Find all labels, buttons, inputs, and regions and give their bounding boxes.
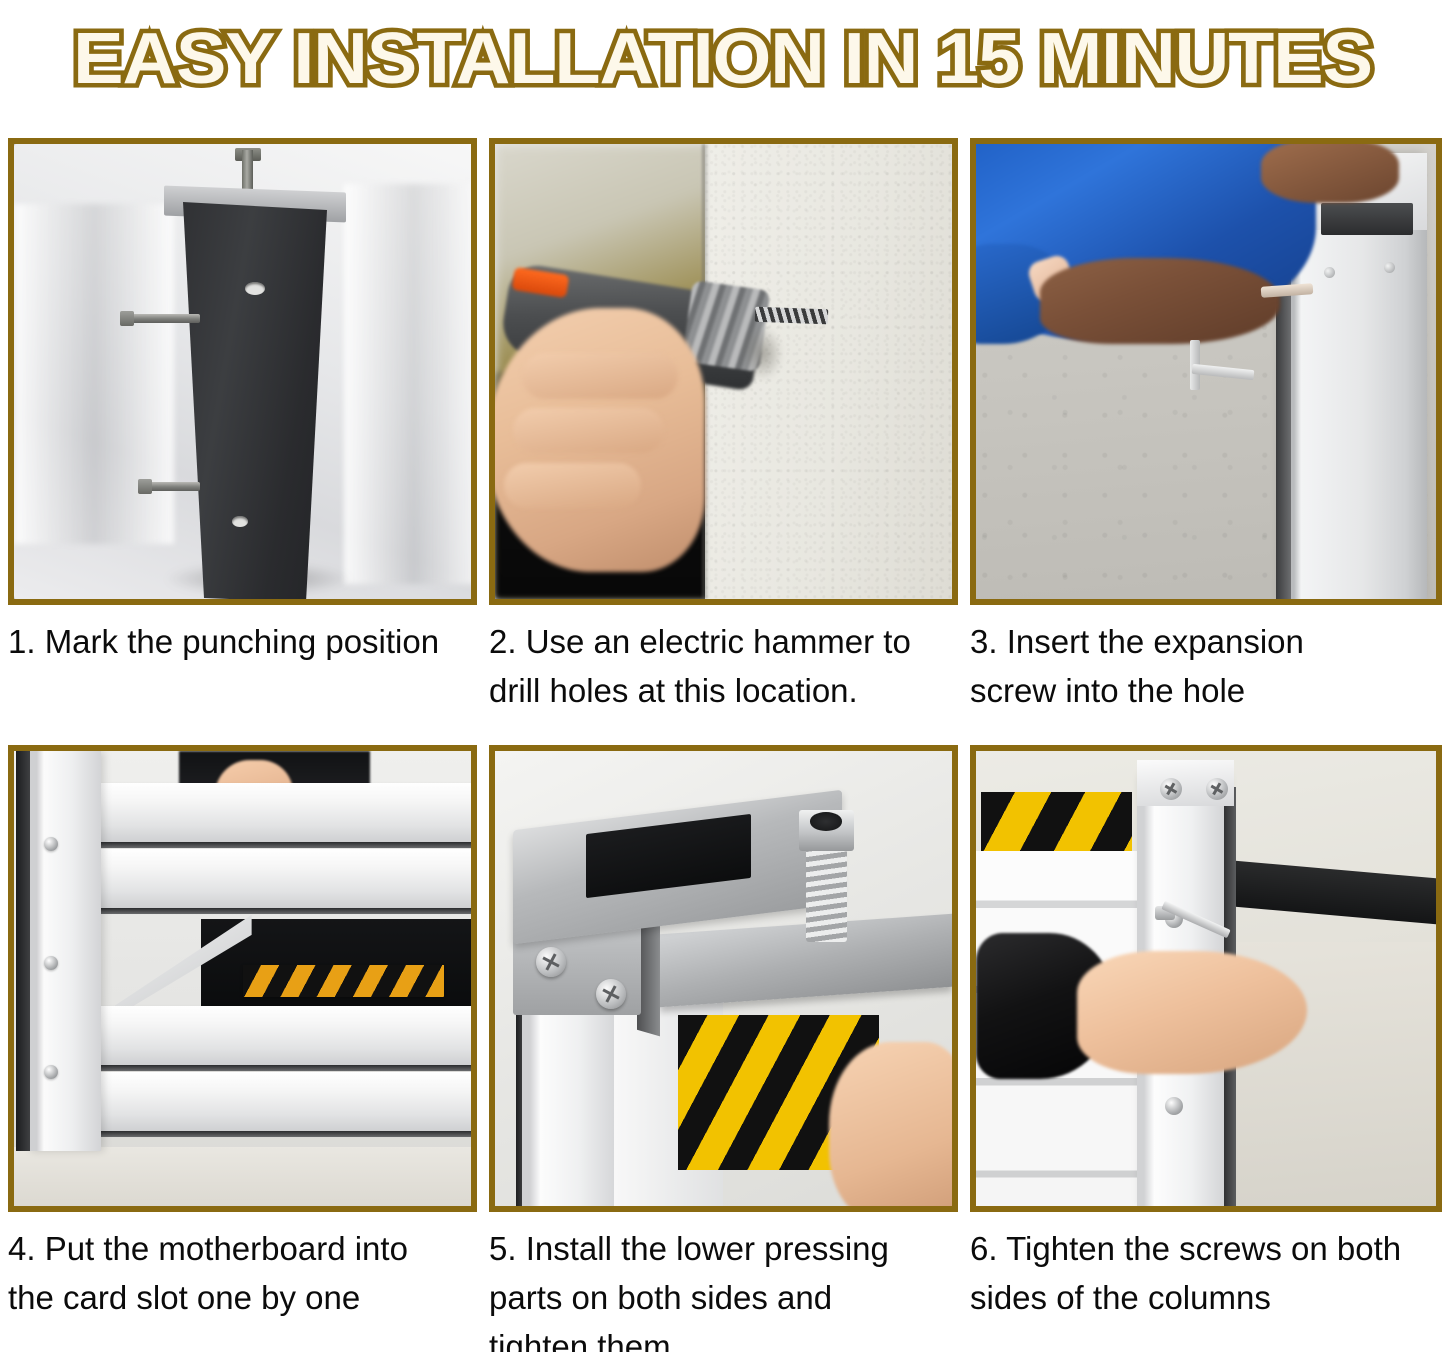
board-groove [87,1131,471,1137]
photo-frame [970,138,1442,605]
caption-line: 3. Insert the expansion [970,617,1442,666]
column-slot [1321,203,1413,235]
photo-frame [489,745,958,1212]
column-screw [1384,262,1395,273]
mounting-hole [232,516,248,527]
bolt-head [138,479,152,494]
hex-socket [810,812,842,830]
caption-line: screw into the hole [970,666,1442,715]
caption-line: drill holes at this location. [489,666,958,715]
caption-line: the card slot one by one [8,1273,477,1322]
photo-boards-into-slot [14,751,471,1206]
caption-line: 1. Mark the punching position [8,617,477,666]
finger [513,408,664,454]
photo-insert-expansion-screw [976,144,1436,599]
hazard-stripe-board [981,792,1133,851]
drill-bit [755,307,829,325]
caption-line: 2. Use an electric hammer to [489,617,958,666]
caption-line: 5. Install the lower pressing [489,1224,958,1273]
photo-tighten-screws [976,751,1436,1206]
photo-frame [489,138,958,605]
installer-hand [829,1042,952,1206]
phillips-screw [536,947,566,977]
worker-arm [1040,258,1279,344]
cloth-fold [344,184,471,584]
phillips-screw [596,979,626,1009]
barrier-board [87,783,471,842]
board-groove [87,1065,471,1071]
hazard-stripe-board [243,965,444,997]
bolt-head [120,311,134,326]
column-screw [1324,267,1335,278]
step-6-photo[interactable] [970,745,1442,1212]
finger [522,353,677,399]
expansion-bolt [128,314,200,323]
caption-line: parts on both sides and [489,1273,958,1322]
drill-dust [742,326,783,381]
finger [504,463,641,509]
caption-line: tighten them [489,1322,958,1352]
board-groove [87,842,471,848]
header-banner: EASY INSTALLATION IN 15 MINUTES [0,0,1445,118]
post-screw [44,1065,58,1079]
step-1-caption: 1. Mark the punching position [8,605,477,745]
step-3-photo[interactable] [970,138,1442,605]
photo-frame [8,745,477,1212]
barrier-board [87,849,471,908]
mounting-hole [245,282,265,295]
page-title: EASY INSTALLATION IN 15 MINUTES [73,20,1372,98]
step-5-photo[interactable] [489,745,958,1212]
photo-pressing-bracket [495,751,952,1206]
photo-drilling-wall [495,144,952,599]
post-screw [44,956,58,970]
step-2-photo[interactable] [489,138,958,605]
step-4-caption: 4. Put the motherboard into the card slo… [8,1212,477,1342]
step-1-photo[interactable] [8,138,477,605]
step-5-caption: 5. Install the lower pressing parts on b… [489,1212,958,1342]
installation-guide-page: EASY INSTALLATION IN 15 MINUTES [0,0,1445,1352]
steps-grid: 1. Mark the punching position 2. Use an … [8,138,1440,1338]
post-dark-edge [16,751,30,1151]
photo-frame [8,138,477,605]
caption-line: sides of the columns [970,1273,1442,1322]
expansion-bolt [144,482,200,491]
vertical-post [28,751,101,1151]
caption-line: 6. Tighten the screws on both [970,1224,1442,1273]
step-2-caption: 2. Use an electric hammer to drill holes… [489,605,958,745]
board-groove [87,908,471,914]
step-6-caption: 6. Tighten the screws on both sides of t… [970,1212,1442,1342]
hex-bolt-thread [806,842,847,942]
barrier-board [87,1072,471,1131]
photo-frame [970,745,1442,1212]
photo-post-base [14,144,471,599]
caption-line: 4. Put the motherboard into [8,1224,477,1273]
column-screw [1165,1097,1183,1115]
step-4-photo[interactable] [8,745,477,1212]
barrier-board [87,1006,471,1065]
floor [14,1147,471,1206]
step-3-caption: 3. Insert the expansion screw into the h… [970,605,1442,745]
worker-second-hand [1261,144,1399,203]
